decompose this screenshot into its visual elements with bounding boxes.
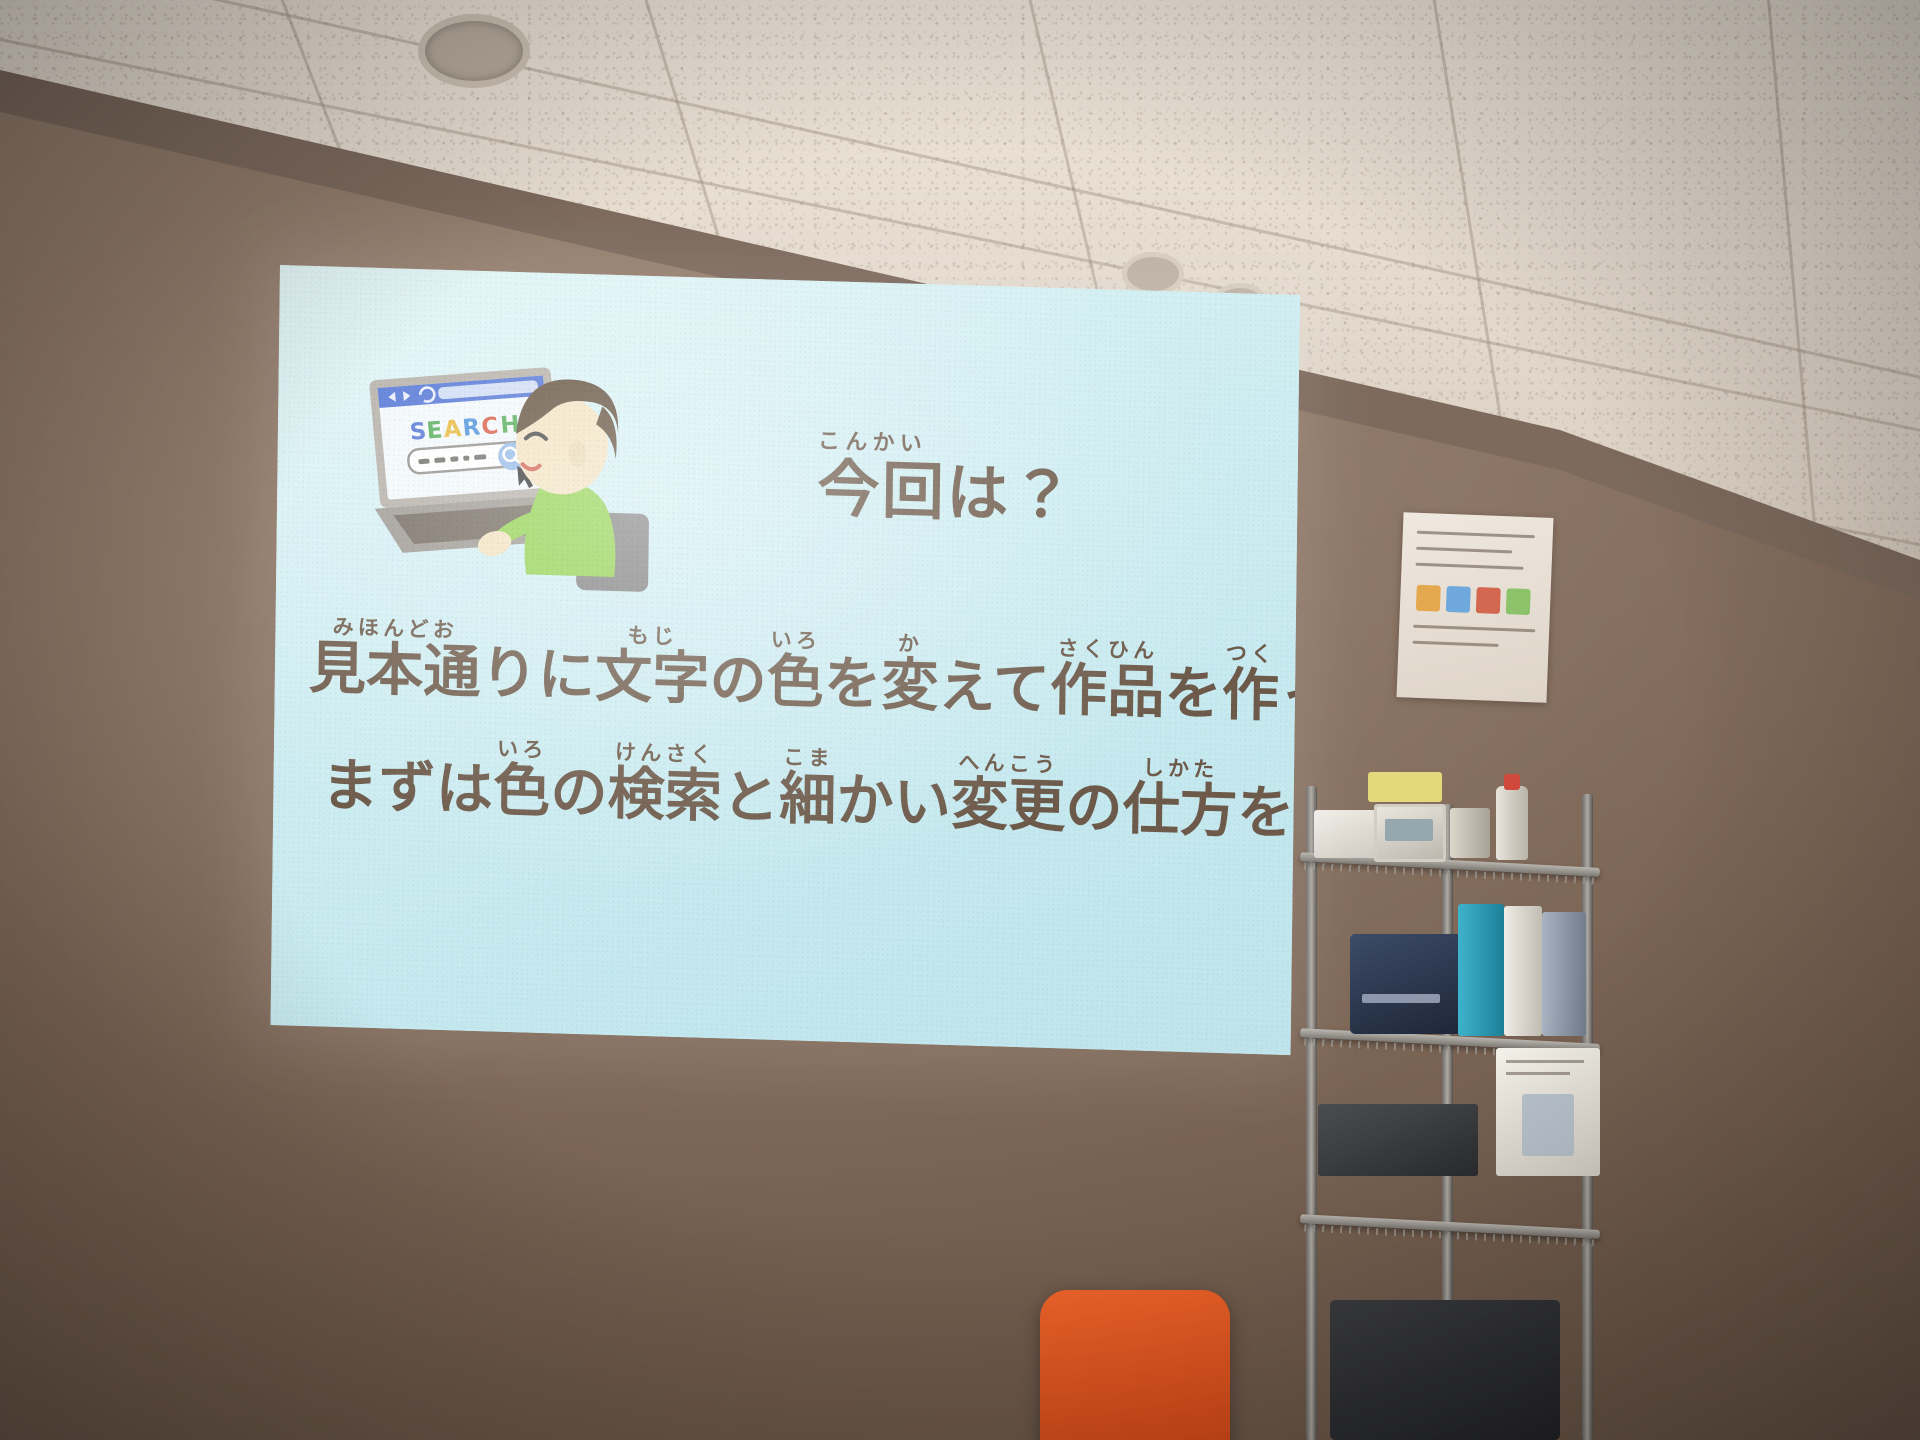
spray-bottle — [1496, 786, 1528, 860]
downlight-large-icon — [418, 14, 530, 88]
room-scene — [0, 0, 1920, 1440]
wall-poster — [1397, 512, 1554, 703]
digital-clock — [1374, 804, 1446, 862]
instruction-card — [1496, 1048, 1600, 1176]
small-bottles — [1450, 808, 1490, 858]
grey-binder — [1542, 912, 1586, 1036]
yellow-note — [1368, 772, 1442, 802]
navy-case — [1350, 934, 1468, 1034]
white-binder — [1504, 906, 1542, 1036]
downlight-small-icon — [1212, 283, 1268, 323]
downlight-medium-icon — [1122, 252, 1184, 296]
blue-binder — [1458, 904, 1504, 1036]
dark-panel — [1330, 1300, 1560, 1440]
orange-chair — [1040, 1290, 1230, 1440]
stacked-folders — [1318, 1104, 1478, 1176]
